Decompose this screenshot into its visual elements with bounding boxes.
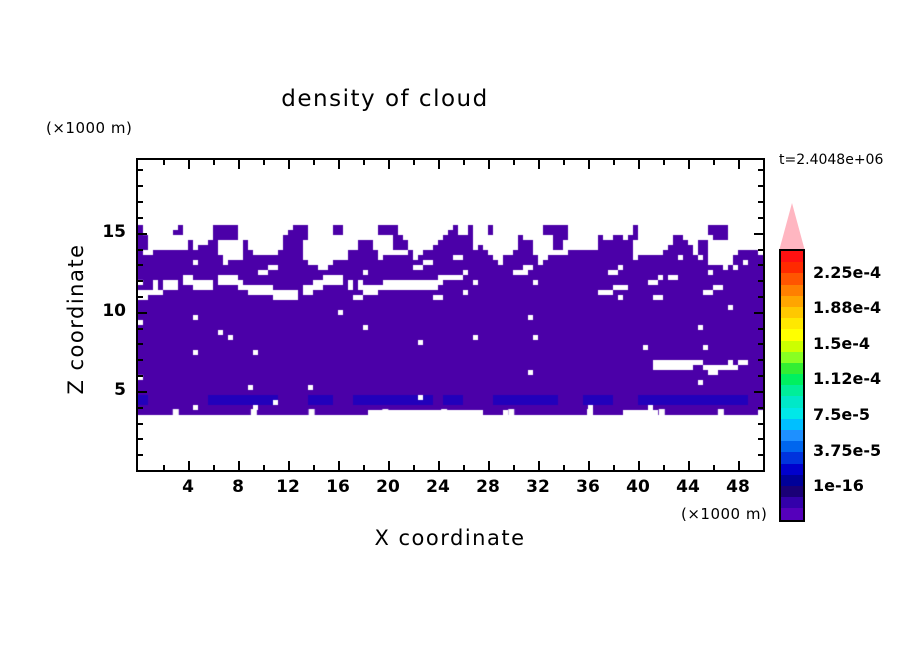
x-tick-label: 8	[218, 477, 258, 497]
axis-tick	[758, 185, 763, 187]
colorbar-tick-label: 1.12e-4	[813, 369, 881, 388]
axis-tick	[213, 465, 215, 470]
colorbar-band	[781, 441, 803, 452]
axis-tick	[758, 343, 763, 345]
axis-tick	[138, 343, 143, 345]
colorbar-tick-label: 1.88e-4	[813, 298, 881, 317]
axis-tick	[463, 465, 465, 470]
axis-tick	[613, 160, 615, 165]
axis-tick	[758, 217, 763, 219]
axis-tick	[513, 160, 515, 165]
axis-tick	[138, 312, 147, 314]
y-tick-label: 10	[86, 301, 126, 321]
x-tick-label: 44	[668, 477, 708, 497]
axis-tick	[713, 465, 715, 470]
y-tick-label: 5	[86, 380, 126, 400]
colorbar-band	[781, 329, 803, 340]
axis-tick	[688, 160, 690, 169]
axis-tick	[413, 160, 415, 165]
axis-tick	[758, 375, 763, 377]
axis-tick	[758, 280, 763, 282]
y-axis-unit-label: (×1000 m)	[46, 119, 132, 137]
colorbar-band	[781, 341, 803, 352]
time-annotation: t=2.4048e+06	[779, 152, 883, 168]
colorbar-band	[781, 285, 803, 296]
axis-tick	[138, 375, 143, 377]
colorbar-arrow-cap	[779, 203, 805, 251]
colorbar-band	[781, 475, 803, 486]
axis-tick	[338, 160, 340, 169]
axis-tick	[413, 465, 415, 470]
axis-tick	[758, 169, 763, 171]
axis-tick	[213, 160, 215, 165]
axis-tick	[138, 201, 143, 203]
page-title: density of cloud	[0, 86, 770, 112]
x-tick-label: 16	[318, 477, 358, 497]
axis-tick	[758, 201, 763, 203]
axis-tick	[188, 160, 190, 169]
x-tick-label: 48	[718, 477, 758, 497]
colorbar-band	[781, 396, 803, 407]
axis-tick	[263, 465, 265, 470]
axis-tick	[363, 160, 365, 165]
axis-tick	[138, 438, 143, 440]
axis-tick	[138, 328, 143, 330]
x-tick-label: 20	[368, 477, 408, 497]
colorbar-tick-label: 3.75e-5	[813, 441, 881, 460]
colorbar-tick-label: 7.5e-5	[813, 405, 870, 424]
colorbar-band	[781, 307, 803, 318]
colorbar-band	[781, 251, 803, 262]
colorbar-band	[781, 363, 803, 374]
axis-tick	[263, 160, 265, 165]
colorbar-band	[781, 464, 803, 475]
colorbar-band	[781, 262, 803, 273]
axis-tick	[388, 160, 390, 169]
colorbar-tick-label: 1e-16	[813, 476, 864, 495]
colorbar-band	[781, 419, 803, 430]
colorbar-tick-label: 1.5e-4	[813, 334, 870, 353]
axis-tick	[163, 465, 165, 470]
axis-tick	[758, 264, 763, 266]
axis-tick	[438, 160, 440, 169]
axis-tick	[758, 328, 763, 330]
axis-tick	[563, 160, 565, 165]
axis-tick	[138, 217, 143, 219]
axis-tick	[138, 169, 143, 171]
axis-tick	[138, 233, 147, 235]
axis-tick	[363, 465, 365, 470]
axis-tick	[288, 461, 290, 470]
colorbar-band	[781, 486, 803, 497]
axis-tick	[613, 465, 615, 470]
x-tick-label: 24	[418, 477, 458, 497]
axis-tick	[713, 160, 715, 165]
axis-tick	[513, 465, 515, 470]
axis-tick	[188, 461, 190, 470]
axis-tick	[138, 185, 143, 187]
colorbar-band	[781, 452, 803, 463]
axis-tick	[138, 296, 143, 298]
axis-tick	[754, 312, 763, 314]
colorbar-band	[781, 352, 803, 363]
axis-tick	[758, 423, 763, 425]
axis-tick	[138, 454, 143, 456]
x-axis-unit-label: (×1000 m)	[681, 505, 767, 523]
colorbar-band	[781, 296, 803, 307]
colorbar-tick-label: 2.25e-4	[813, 263, 881, 282]
axis-tick	[588, 160, 590, 169]
axis-tick	[238, 160, 240, 169]
colorbar-band	[781, 318, 803, 329]
axis-tick	[663, 160, 665, 165]
colorbar-band	[781, 374, 803, 385]
axis-tick	[313, 465, 315, 470]
axis-tick	[138, 264, 143, 266]
axis-tick	[738, 160, 740, 169]
x-tick-label: 32	[518, 477, 558, 497]
y-tick-label: 15	[86, 222, 126, 242]
axis-tick	[388, 461, 390, 470]
colorbar-band	[781, 497, 803, 508]
axis-tick	[488, 160, 490, 169]
axis-tick	[138, 249, 143, 251]
y-axis-title: Z coordinate	[64, 179, 88, 459]
cloud-density-field	[138, 160, 763, 470]
contour-plot-area	[136, 158, 765, 472]
axis-tick	[588, 461, 590, 470]
axis-tick	[163, 160, 165, 165]
axis-tick	[738, 461, 740, 470]
axis-tick	[663, 465, 665, 470]
axis-tick	[138, 423, 143, 425]
axis-tick	[754, 391, 763, 393]
axis-tick	[538, 160, 540, 169]
axis-tick	[758, 407, 763, 409]
colorbar-band	[781, 273, 803, 284]
axis-tick	[758, 438, 763, 440]
axis-tick	[288, 160, 290, 169]
x-tick-label: 12	[268, 477, 308, 497]
axis-tick	[754, 233, 763, 235]
axis-tick	[638, 160, 640, 169]
axis-tick	[138, 407, 143, 409]
x-tick-label: 28	[468, 477, 508, 497]
axis-tick	[638, 461, 640, 470]
x-tick-label: 4	[168, 477, 208, 497]
axis-tick	[758, 249, 763, 251]
axis-tick	[758, 359, 763, 361]
axis-tick	[463, 160, 465, 165]
axis-tick	[488, 461, 490, 470]
axis-tick	[538, 461, 540, 470]
axis-tick	[313, 160, 315, 165]
x-axis-title: X coordinate	[250, 526, 650, 550]
colorbar-band	[781, 430, 803, 441]
colorbar-band	[781, 385, 803, 396]
axis-tick	[138, 359, 143, 361]
axis-tick	[688, 461, 690, 470]
colorbar-band-stack	[779, 249, 805, 522]
x-tick-label: 36	[568, 477, 608, 497]
axis-tick	[138, 280, 143, 282]
axis-tick	[338, 461, 340, 470]
colorbar-band	[781, 508, 803, 519]
axis-tick	[138, 391, 147, 393]
axis-tick	[758, 454, 763, 456]
colorbar-band	[781, 408, 803, 419]
axis-tick	[238, 461, 240, 470]
axis-tick	[438, 461, 440, 470]
axis-tick	[758, 296, 763, 298]
x-tick-label: 40	[618, 477, 658, 497]
axis-tick	[563, 465, 565, 470]
